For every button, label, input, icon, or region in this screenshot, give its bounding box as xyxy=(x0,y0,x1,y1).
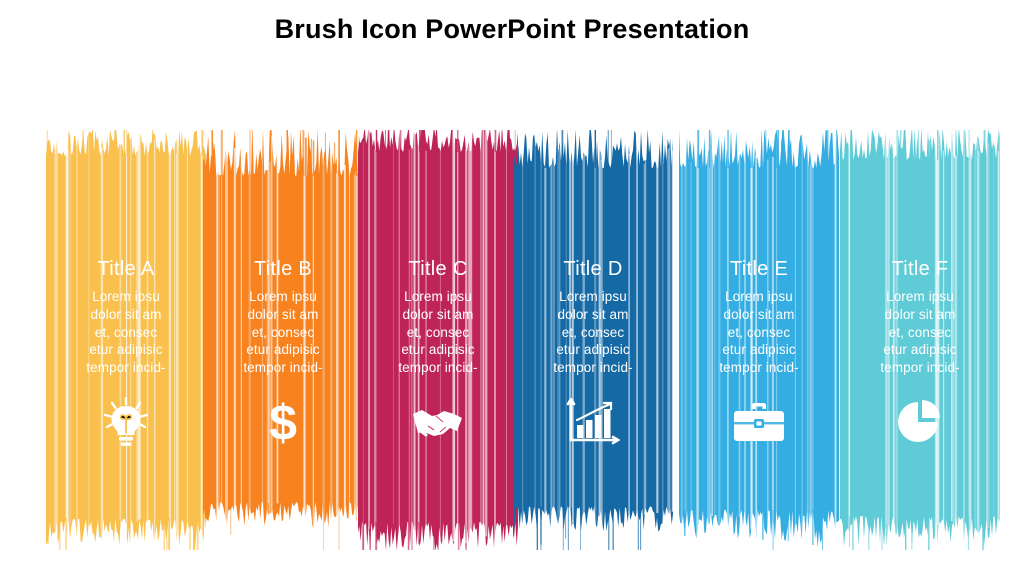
page-title: Brush Icon PowerPoint Presentation xyxy=(0,14,1024,45)
brush-column-e[interactable]: Title ELorem ipsu dolor sit am et, conse… xyxy=(679,130,839,550)
brush-stroke-shape-c xyxy=(358,130,518,550)
briefcase-icon xyxy=(679,392,839,452)
brush-column-a[interactable]: Title ALorem ipsu dolor sit am et, conse… xyxy=(46,130,206,550)
bar-chart-growth-icon xyxy=(513,392,673,452)
brush-stroke-shape-f xyxy=(840,130,1000,550)
brush-column-c[interactable]: Title CLorem ipsu dolor sit am et, conse… xyxy=(358,130,518,550)
pie-chart-icon xyxy=(840,392,1000,452)
lightbulb-icon xyxy=(46,392,206,452)
brush-stroke-shape-e xyxy=(679,130,839,550)
brush-column-f[interactable]: Title FLorem ipsu dolor sit am et, conse… xyxy=(840,130,1000,550)
brush-column-d[interactable]: Title DLorem ipsu dolor sit am et, conse… xyxy=(513,130,673,550)
slide-canvas: Brush Icon PowerPoint Presentation Title… xyxy=(0,0,1024,576)
brush-column-b[interactable]: Title BLorem ipsu dolor sit am et, conse… xyxy=(203,130,363,550)
brush-stroke-shape-d xyxy=(513,130,673,550)
brush-columns-row: Title ALorem ipsu dolor sit am et, conse… xyxy=(0,130,1024,550)
svg-text:$: $ xyxy=(269,396,297,448)
brush-stroke-shape-a xyxy=(46,130,206,550)
handshake-icon xyxy=(358,392,518,452)
brush-stroke-shape-b xyxy=(203,130,363,550)
dollar-sign-icon: $ xyxy=(203,392,363,452)
